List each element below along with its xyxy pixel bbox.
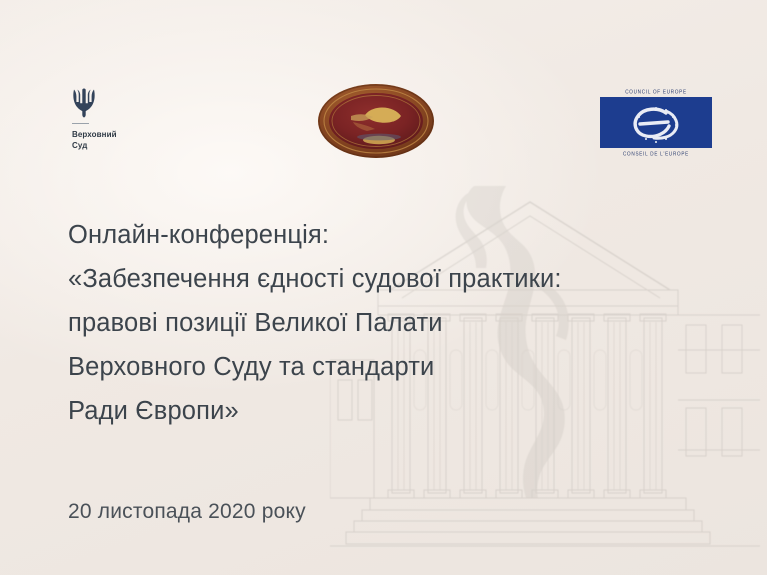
supreme-court-name-line1: Верховний xyxy=(72,129,142,140)
conference-date: 20 листопада 2020 року xyxy=(68,497,306,527)
title-line-2: «Забезпечення єдності судової практики: xyxy=(68,257,668,301)
council-of-europe-logo: COUNCIL OF EUROPE xyxy=(600,88,712,157)
logo-row: Верховний Суд xyxy=(0,78,767,173)
conference-title: Онлайн-конференція: «Забезпечення єдност… xyxy=(68,213,668,433)
court-seal-emblem-icon xyxy=(317,82,435,160)
coe-top-label: COUNCIL OF EUROPE xyxy=(600,87,712,96)
title-line-1: Онлайн-конференція: xyxy=(68,213,668,257)
logo-divider-rule xyxy=(72,123,89,124)
supreme-court-name-line2: Суд xyxy=(72,140,142,151)
supreme-court-name: Верховний Суд xyxy=(72,129,142,151)
conference-announcement-poster: Верховний Суд xyxy=(0,0,767,575)
supreme-court-of-ukraine-logo: Верховний Суд xyxy=(66,88,196,151)
coe-flag xyxy=(600,97,712,148)
ukraine-trident-icon xyxy=(72,88,96,118)
coe-bottom-label: CONSEIL DE L'EUROPE xyxy=(600,149,712,158)
title-line-4: Верховного Суду та стандарти xyxy=(68,345,668,389)
title-line-5: Ради Європи» xyxy=(68,389,668,433)
title-line-3: правові позиції Великої Палати xyxy=(68,301,668,345)
